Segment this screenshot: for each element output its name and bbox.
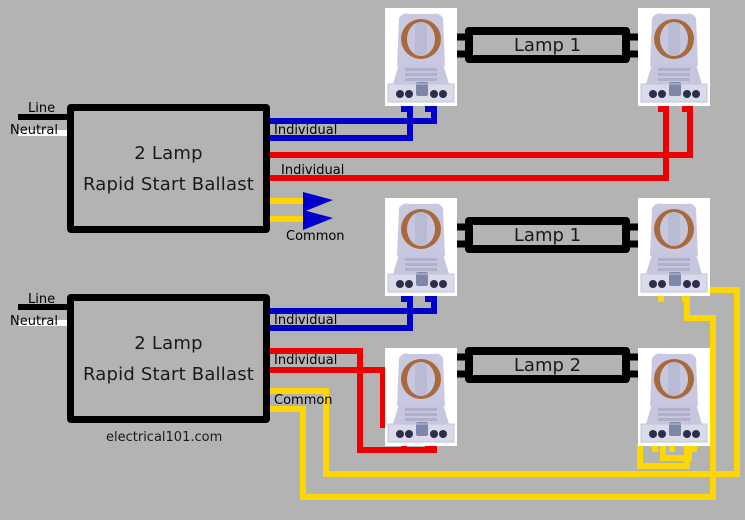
- label-individual-blue-bottom: Individual: [274, 313, 337, 328]
- lamp-tube-row1[interactable]: Lamp 1: [465, 27, 630, 63]
- label-individual-red-bottom: Individual: [274, 353, 337, 368]
- lamp-tube-row2-label: Lamp 1: [514, 225, 581, 246]
- label-line-top: Line: [28, 101, 55, 116]
- label-neutral-top: Neutral: [10, 123, 58, 138]
- ballast-top-title-2: Rapid Start Ballast: [83, 174, 254, 195]
- ballast-top-title-1: 2 Lamp: [134, 143, 202, 164]
- label-individual-red-top: Individual: [281, 163, 344, 178]
- ballast-top[interactable]: 2 Lamp Rapid Start Ballast: [67, 104, 270, 233]
- socket-row1-left: [385, 8, 457, 106]
- lamp-tube-row2[interactable]: Lamp 1: [465, 217, 630, 253]
- lamp-tube-row3[interactable]: Lamp 2: [465, 347, 630, 383]
- label-neutral-bottom: Neutral: [10, 314, 58, 329]
- ballast-bottom-title-2: Rapid Start Ballast: [83, 364, 254, 385]
- socket-row3-right: [638, 348, 710, 446]
- lamp-tube-row1-label: Lamp 1: [514, 35, 581, 56]
- label-common-bottom: Common: [274, 393, 333, 408]
- label-common-top: Common: [286, 229, 345, 244]
- socket-row2-right: [638, 198, 710, 296]
- socket-row2-left: [385, 198, 457, 296]
- ballast-bottom[interactable]: 2 Lamp Rapid Start Ballast: [67, 294, 270, 423]
- ballast-bottom-title-1: 2 Lamp: [134, 333, 202, 354]
- wire-nut-top-2-icon: [303, 210, 333, 230]
- wire-nut-top-1-icon: [303, 192, 333, 212]
- watermark: electrical101.com: [106, 430, 222, 445]
- label-individual-blue-top: Individual: [274, 123, 337, 138]
- label-line-bottom: Line: [28, 292, 55, 307]
- socket-row1-right: [638, 8, 710, 106]
- wiring-diagram: 2 Lamp Rapid Start Ballast 2 Lamp Rapid …: [0, 0, 745, 520]
- socket-row3-left: [385, 348, 457, 446]
- lamp-tube-row3-label: Lamp 2: [514, 355, 581, 376]
